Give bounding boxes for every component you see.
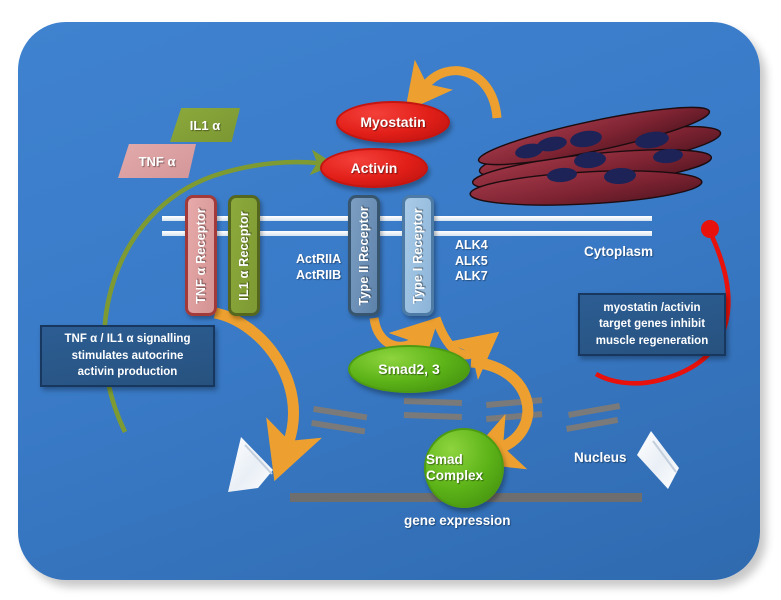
receptor-type-2-label: Type II Receptor [357,206,371,306]
receptor-tnf-alpha[interactable]: TNF α Receptor [185,195,217,316]
muscle-fibers [469,97,723,210]
receptor-type-1-label: Type I Receptor [411,208,425,304]
diagram-canvas: IL1 α TNF α Myostatin Activin TNF α Rece… [0,0,781,600]
label-gene-expression: gene expression [404,513,511,530]
ligand-tnf-alpha[interactable]: TNF α [118,144,196,178]
node-smad-complex[interactable]: Smad Complex [424,428,504,508]
arrow-receptor-to-nucleus [215,313,294,444]
annotation-inhibition-note: myostatin /activin target genes inhibit … [578,293,726,356]
receptor-il1-alpha[interactable]: IL1 α Receptor [228,195,260,316]
node-smad2-3[interactable]: Smad2, 3 [348,345,470,393]
node-myostatin[interactable]: Myostatin [336,101,450,143]
node-activin[interactable]: Activin [320,148,428,188]
type-2-receptor-subtypes: ActRIIA ActRIIB [296,252,341,283]
receptor-tnf-alpha-label: TNF α Receptor [194,208,208,304]
label-nucleus: Nucleus [574,450,627,467]
receptor-il1-alpha-label: IL1 α Receptor [237,211,251,301]
annotation-autocrine-note: TNF α / IL1 α signalling stimulates auto… [40,325,215,387]
receptor-type-1[interactable]: Type I Receptor [402,195,434,316]
type-1-receptor-subtypes: ALK4 ALK5 ALK7 [455,238,488,285]
label-cytoplasm: Cytoplasm [584,244,653,261]
receptor-type-2[interactable]: Type II Receptor [348,195,380,316]
arrow-type2-to-type1 [374,318,416,346]
ligand-il1-alpha[interactable]: IL1 α [170,108,240,142]
